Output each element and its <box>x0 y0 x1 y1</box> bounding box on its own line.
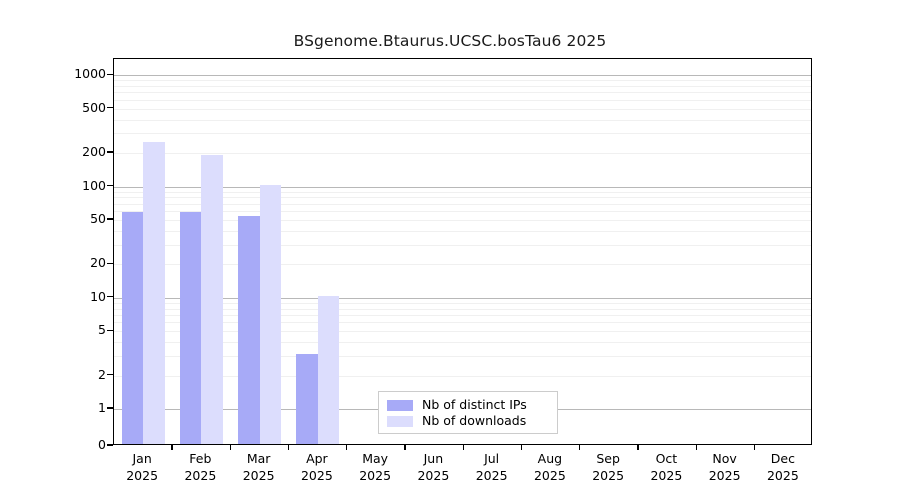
bar-ips-jan <box>122 212 144 444</box>
y-tick-mark-20 <box>107 263 113 264</box>
x-tick-mark-9 <box>637 445 638 450</box>
y-axis: 01251020501002005001000 <box>58 0 106 500</box>
x-tick-month: Sep <box>576 450 640 467</box>
x-tick-month: Feb <box>168 450 232 467</box>
x-tick-month: Apr <box>285 450 349 467</box>
y-tick-label-2: 2 <box>60 368 106 381</box>
x-tick-label-jul: Jul2025 <box>460 450 524 484</box>
bar-dls-jan <box>143 142 165 444</box>
x-tick-mark-7 <box>521 445 522 450</box>
bars-layer <box>114 59 811 444</box>
x-tick-label-feb: Feb2025 <box>168 450 232 484</box>
x-tick-label-mar: Mar2025 <box>227 450 291 484</box>
x-tick-label-may: May2025 <box>343 450 407 484</box>
x-tick-month: Jan <box>110 450 174 467</box>
x-axis: Jan2025Feb2025Mar2025Apr2025May2025Jun20… <box>113 450 812 494</box>
legend-label-distinct-ips: Nb of distinct IPs <box>422 399 527 412</box>
x-tick-month: Oct <box>634 450 698 467</box>
x-tick-label-jun: Jun2025 <box>401 450 465 484</box>
x-tick-year: 2025 <box>518 467 582 484</box>
y-tick-mark-2 <box>107 374 113 375</box>
y-tick-label-0: 0 <box>60 439 106 452</box>
y-tick-label-200: 200 <box>60 146 106 159</box>
bar-dls-apr <box>318 296 340 444</box>
chart-title: BSgenome.Btaurus.UCSC.bosTau6 2025 <box>0 32 900 50</box>
x-tick-year: 2025 <box>401 467 465 484</box>
y-tick-mark-500 <box>107 107 113 108</box>
y-tick-mark-50 <box>107 218 113 219</box>
x-tick-month: Jul <box>460 450 524 467</box>
x-tick-label-sep: Sep2025 <box>576 450 640 484</box>
x-tick-month: Nov <box>693 450 757 467</box>
y-tick-mark-0 <box>107 444 113 445</box>
y-tick-mark-100 <box>107 185 113 186</box>
x-tick-year: 2025 <box>168 467 232 484</box>
y-tick-mark-5 <box>107 330 113 331</box>
y-tick-label-100: 100 <box>60 179 106 192</box>
x-tick-mark-4 <box>346 445 347 450</box>
legend-swatch-icon-distinct-ips <box>387 400 413 411</box>
x-tick-year: 2025 <box>460 467 524 484</box>
y-tick-mark-1 <box>107 407 113 408</box>
x-tick-mark-1 <box>171 445 172 450</box>
x-tick-month: Aug <box>518 450 582 467</box>
bar-dls-feb <box>201 155 223 444</box>
y-tick-label-500: 500 <box>60 102 106 115</box>
x-tick-year: 2025 <box>285 467 349 484</box>
x-tick-year: 2025 <box>227 467 291 484</box>
y-tick-label-1: 1 <box>60 402 106 415</box>
bar-ips-apr <box>296 354 318 444</box>
chart-legend: Nb of distinct IPs Nb of downloads <box>378 391 558 434</box>
x-tick-year: 2025 <box>343 467 407 484</box>
x-tick-label-oct: Oct2025 <box>634 450 698 484</box>
y-tick-mark-10 <box>107 296 113 297</box>
y-tick-label-50: 50 <box>60 213 106 226</box>
chart-figure: BSgenome.Btaurus.UCSC.bosTau6 2025 01251… <box>0 0 900 500</box>
x-tick-mark-6 <box>463 445 464 450</box>
x-tick-label-jan: Jan2025 <box>110 450 174 484</box>
x-tick-mark-5 <box>404 445 405 450</box>
y-tick-label-5: 5 <box>60 324 106 337</box>
x-tick-mark-10 <box>696 445 697 450</box>
x-tick-month: Mar <box>227 450 291 467</box>
legend-swatch-icon-downloads <box>387 416 413 427</box>
plot-area <box>113 58 812 445</box>
x-tick-mark-11 <box>754 445 755 450</box>
x-tick-year: 2025 <box>634 467 698 484</box>
x-tick-label-dec: Dec2025 <box>751 450 815 484</box>
y-tick-label-20: 20 <box>60 257 106 270</box>
x-tick-mark-2 <box>230 445 231 450</box>
x-tick-month: Dec <box>751 450 815 467</box>
legend-item-downloads: Nb of downloads <box>387 413 549 429</box>
x-tick-year: 2025 <box>693 467 757 484</box>
x-tick-year: 2025 <box>110 467 174 484</box>
y-tick-mark-1000 <box>107 74 113 75</box>
y-tick-label-1000: 1000 <box>60 68 106 81</box>
x-tick-year: 2025 <box>751 467 815 484</box>
legend-item-distinct-ips: Nb of distinct IPs <box>387 397 549 413</box>
legend-label-downloads: Nb of downloads <box>422 415 526 428</box>
bar-dls-mar <box>260 185 282 444</box>
x-tick-mark-8 <box>579 445 580 450</box>
bar-ips-mar <box>238 216 260 444</box>
x-tick-month: Jun <box>401 450 465 467</box>
y-tick-mark-200 <box>107 151 113 152</box>
x-tick-month: May <box>343 450 407 467</box>
x-tick-year: 2025 <box>576 467 640 484</box>
bar-ips-feb <box>180 212 202 444</box>
x-tick-mark-3 <box>288 445 289 450</box>
y-tick-label-10: 10 <box>60 291 106 304</box>
x-tick-label-apr: Apr2025 <box>285 450 349 484</box>
x-tick-label-nov: Nov2025 <box>693 450 757 484</box>
x-tick-label-aug: Aug2025 <box>518 450 582 484</box>
